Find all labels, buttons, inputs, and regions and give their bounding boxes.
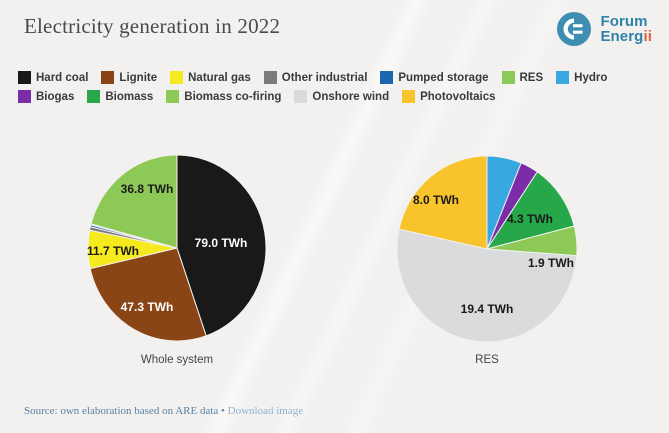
legend-row: BiogasBiomassBiomass co-firingOnshore wi… <box>18 87 658 106</box>
legend-swatch-icon <box>18 90 31 103</box>
legend-swatch-icon <box>502 71 515 84</box>
legend-swatch-icon <box>101 71 114 84</box>
pie-chart-caption: RES <box>387 354 587 366</box>
logo-wordmark: Forum Energii <box>600 14 652 45</box>
legend-item-onshore-wind[interactable]: Onshore wind <box>294 90 389 103</box>
pie-charts-container: 79.0 TWh47.3 TWh11.7 TWh36.8 TWhWhole sy… <box>0 108 669 398</box>
legend-swatch-icon <box>294 90 307 103</box>
chart-page: Electricity generation in 2022 Forum Ene… <box>0 0 669 433</box>
source-footer: Source: own elaboration based on ARE dat… <box>24 405 303 417</box>
legend-item-natural-gas[interactable]: Natural gas <box>170 71 251 84</box>
legend-item-biogas[interactable]: Biogas <box>18 90 74 103</box>
logo-line-2: Energ <box>600 28 643 45</box>
legend-swatch-icon <box>556 71 569 84</box>
legend-swatch-icon <box>402 90 415 103</box>
legend-item-label: Hydro <box>574 72 607 84</box>
legend-swatch-icon <box>264 71 277 84</box>
legend-swatch-icon <box>87 90 100 103</box>
pie-slice-value-label: 1.9 TWh <box>528 256 574 270</box>
forum-energii-logo: Forum Energii <box>556 11 652 47</box>
legend-item-biomass[interactable]: Biomass <box>87 90 153 103</box>
logo-accent: ii <box>643 28 652 45</box>
legend-item-label: Biomass <box>105 91 153 103</box>
legend-item-other-industrial[interactable]: Other industrial <box>264 71 368 84</box>
legend-swatch-icon <box>380 71 393 84</box>
pie-slice-value-label: 19.4 TWh <box>461 302 514 316</box>
download-image-link[interactable]: Download image <box>228 405 303 417</box>
forum-energii-circle-e-logo <box>556 11 592 47</box>
legend-swatch-icon <box>170 71 183 84</box>
legend-item-label: Biomass co-firing <box>184 91 281 103</box>
legend-item-label: Photovoltaics <box>420 91 495 103</box>
pie-slice-value-label: 8.0 TWh <box>413 193 459 207</box>
chart-legend: Hard coalLigniteNatural gasOther industr… <box>18 68 658 106</box>
pie-slice-value-label: 4.3 TWh <box>507 212 553 226</box>
legend-item-label: Onshore wind <box>312 91 389 103</box>
legend-swatch-icon <box>166 90 179 103</box>
legend-item-photovoltaics[interactable]: Photovoltaics <box>402 90 495 103</box>
page-title: Electricity generation in 2022 <box>24 14 280 39</box>
legend-item-label: RES <box>520 72 544 84</box>
legend-swatch-icon <box>18 71 31 84</box>
source-text: Source: own elaboration based on ARE dat… <box>24 405 228 417</box>
pie-chart-res: 4.3 TWh1.9 TWh19.4 TWh8.0 TWhRES <box>0 108 669 398</box>
legend-item-pumped-storage[interactable]: Pumped storage <box>380 71 488 84</box>
legend-item-hydro[interactable]: Hydro <box>556 71 607 84</box>
legend-item-label: Other industrial <box>282 72 368 84</box>
legend-item-label: Natural gas <box>188 72 251 84</box>
legend-item-res[interactable]: RES <box>502 71 544 84</box>
legend-item-label: Hard coal <box>36 72 88 84</box>
legend-item-lignite[interactable]: Lignite <box>101 71 157 84</box>
legend-item-label: Lignite <box>119 72 157 84</box>
legend-item-label: Biogas <box>36 91 74 103</box>
legend-row: Hard coalLigniteNatural gasOther industr… <box>18 68 658 87</box>
legend-item-hard-coal[interactable]: Hard coal <box>18 71 88 84</box>
legend-item-label: Pumped storage <box>398 72 488 84</box>
legend-item-biomass-co-firing[interactable]: Biomass co-firing <box>166 90 281 103</box>
